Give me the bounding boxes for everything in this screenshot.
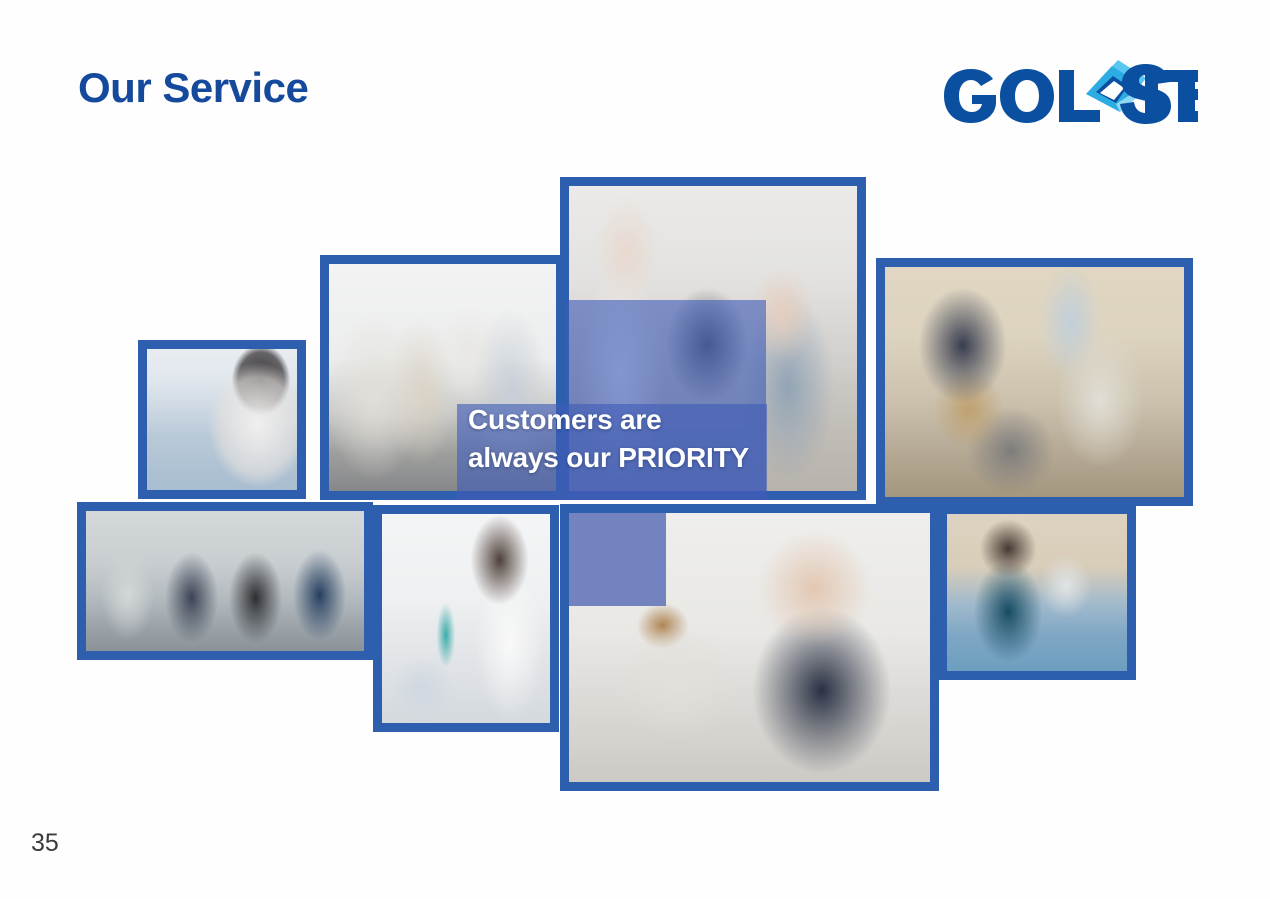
photo-man-beside-analyser[interactable] (560, 504, 939, 791)
photo-image-area (147, 349, 297, 490)
photo-image-area (382, 514, 550, 723)
photo-lab-technician-hijab[interactable] (138, 340, 306, 499)
caption-overlay: Customers are always our PRIORITY (468, 404, 768, 496)
logo-e-letter (1180, 70, 1198, 122)
goldsite-logo (940, 58, 1198, 124)
photo-image-area (569, 513, 930, 782)
logo-text-left (944, 69, 1100, 123)
page-number: 35 (31, 829, 59, 858)
photo-image-area (86, 511, 364, 651)
slide-canvas: Our Service (0, 0, 1270, 899)
page-title: Our Service (78, 67, 308, 109)
photo-image-area (885, 267, 1184, 497)
caption-text: Customers are always our PRIORITY (468, 401, 768, 496)
photo-image-area (947, 514, 1127, 671)
photo-man-teal-scrubs[interactable] (938, 505, 1136, 680)
photo-clinic-training-africa[interactable] (876, 258, 1193, 506)
photo-service-team-four[interactable] (77, 502, 373, 660)
photo-lab-coat-man-tap[interactable] (373, 505, 559, 732)
